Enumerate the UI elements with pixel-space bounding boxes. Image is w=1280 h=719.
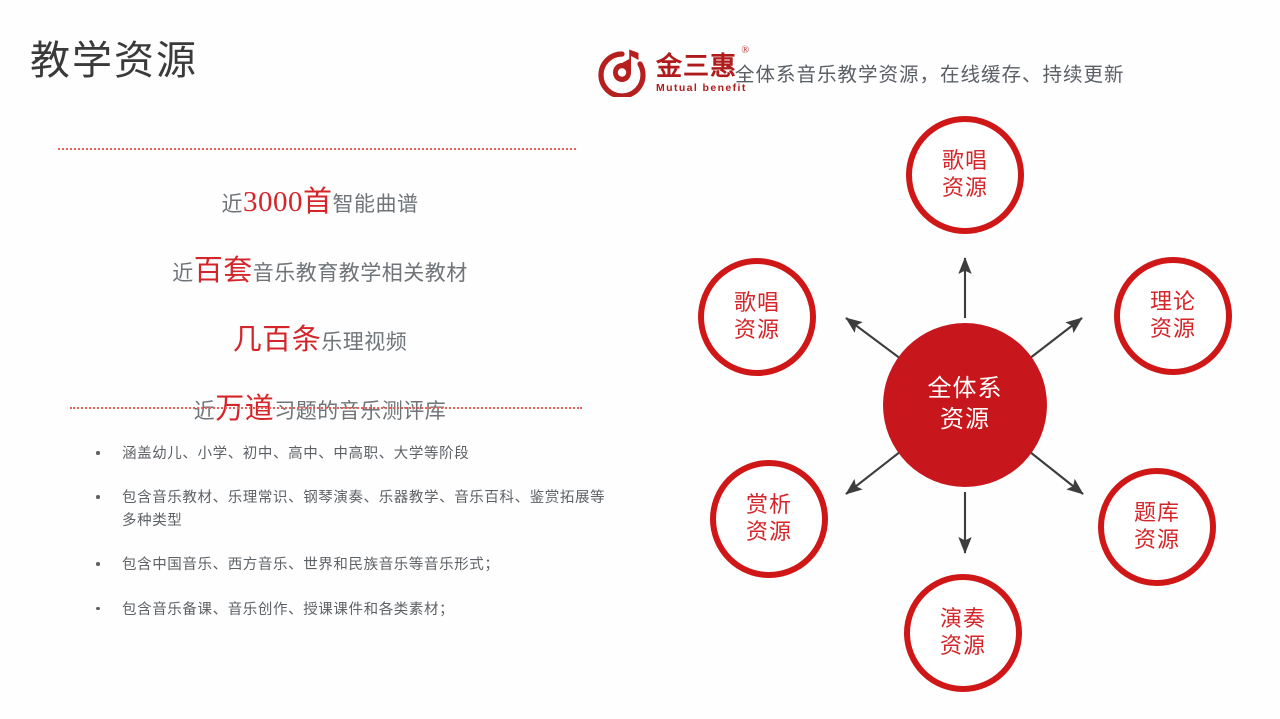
highlight-emphasis: 万道 xyxy=(215,393,274,425)
diagram-node-upper-right[interactable]: 理论 资源 xyxy=(1114,257,1232,375)
divider-bottom xyxy=(70,407,582,409)
bullet-dot-icon xyxy=(96,495,100,499)
highlight-emphasis: 百套 xyxy=(194,255,253,287)
page-title: 教学资源 xyxy=(30,38,198,84)
diagram-node-lower-right[interactable]: 题库 资源 xyxy=(1098,468,1216,586)
diagram-node-bottom[interactable]: 演奏 资源 xyxy=(904,574,1022,692)
highlight-prefix: 近 xyxy=(194,399,216,423)
bullet-dot-icon xyxy=(96,607,100,611)
diagram-node-lower-left-label: 赏析 资源 xyxy=(746,492,792,546)
diagram-node-top-label: 歌唱 资源 xyxy=(942,148,988,202)
list-item: 涵盖幼儿、小学、初中、高中、中高职、大学等阶段 xyxy=(90,443,620,465)
list-item-label: 包含中国音乐、西方音乐、世界和民族音乐等音乐形式； xyxy=(122,557,500,573)
highlight-item: 几百条乐理视频 xyxy=(0,316,640,358)
diagram-node-upper-right-label: 理论 资源 xyxy=(1150,289,1196,343)
divider-top xyxy=(58,148,576,150)
diagram-node-center-label: 全体系 资源 xyxy=(928,374,1003,435)
resource-hub-diagram: 全体系 资源 歌唱 资源 理论 资源 题库 资源 演奏 资源 赏析 资源 歌唱 … xyxy=(650,90,1280,719)
highlight-emphasis: 3000首 xyxy=(243,186,333,218)
highlight-suffix: 音乐教育教学相关教材 xyxy=(253,261,468,285)
diagram-node-center[interactable]: 全体系 资源 xyxy=(883,323,1047,487)
bullet-list: 涵盖幼儿、小学、初中、高中、中高职、大学等阶段 包含音乐教材、乐理常识、钢琴演奏… xyxy=(90,443,620,621)
bullet-dot-icon xyxy=(96,562,100,566)
highlight-suffix: 乐理视频 xyxy=(321,330,407,354)
brand-tagline: 全体系音乐教学资源，在线缓存、持续更新 xyxy=(735,58,1125,87)
diagram-node-lower-left[interactable]: 赏析 资源 xyxy=(710,460,828,578)
connector-to-lower-right xyxy=(1025,448,1083,494)
highlight-item: 近百套音乐教育教学相关教材 xyxy=(0,247,640,289)
highlight-suffix: 习题的音乐测评库 xyxy=(274,399,446,423)
list-item: 包含音乐教材、乐理常识、钢琴演奏、乐器教学、音乐百科、鉴赏拓展等多种类型 xyxy=(90,487,620,532)
list-item: 包含音乐备课、音乐创作、授课课件和各类素材； xyxy=(90,599,620,621)
highlight-emphasis: 几百条 xyxy=(233,324,322,356)
connector-to-upper-left xyxy=(846,318,905,362)
list-item-label: 涵盖幼儿、小学、初中、高中、中高职、大学等阶段 xyxy=(122,446,469,462)
highlight-item: 近万道习题的音乐测评库 xyxy=(0,385,640,427)
highlight-suffix: 智能曲谱 xyxy=(333,192,419,216)
left-content-panel: 近3000首智能曲谱 近百套音乐教育教学相关教材 几百条乐理视频 近万道习题的音… xyxy=(0,130,640,690)
highlight-item: 近3000首智能曲谱 xyxy=(0,178,640,220)
bullet-dot-icon xyxy=(96,451,100,455)
music-note-circle-logo-icon xyxy=(598,49,646,97)
highlight-list: 近3000首智能曲谱 近百套音乐教育教学相关教材 几百条乐理视频 近万道习题的音… xyxy=(0,178,640,427)
diagram-node-lower-right-label: 题库 资源 xyxy=(1134,500,1180,554)
connector-to-lower-left xyxy=(846,448,905,494)
highlight-prefix: 近 xyxy=(172,261,194,285)
diagram-node-bottom-label: 演奏 资源 xyxy=(940,606,986,660)
highlight-prefix: 近 xyxy=(221,192,243,216)
diagram-node-upper-left[interactable]: 歌唱 资源 xyxy=(698,258,816,376)
list-item: 包含中国音乐、西方音乐、世界和民族音乐等音乐形式； xyxy=(90,554,620,576)
list-item-label: 包含音乐教材、乐理常识、钢琴演奏、乐器教学、音乐百科、鉴赏拓展等多种类型 xyxy=(122,490,605,528)
diagram-node-top[interactable]: 歌唱 资源 xyxy=(906,116,1024,234)
connector-to-upper-right xyxy=(1025,318,1082,362)
slide-root: 教学资源 金三惠 ® Mutual benefit 全体系音乐教学资源，在线缓存… xyxy=(0,0,1280,719)
brand-name-cn: 金三惠 ® xyxy=(656,54,737,80)
brand-name-cn-text: 金三惠 xyxy=(656,52,737,81)
diagram-node-upper-left-label: 歌唱 资源 xyxy=(734,290,780,344)
list-item-label: 包含音乐备课、音乐创作、授课课件和各类素材； xyxy=(122,602,454,618)
registered-mark-icon: ® xyxy=(741,46,750,56)
brand-wordmark: 金三惠 ® Mutual benefit xyxy=(656,54,747,94)
